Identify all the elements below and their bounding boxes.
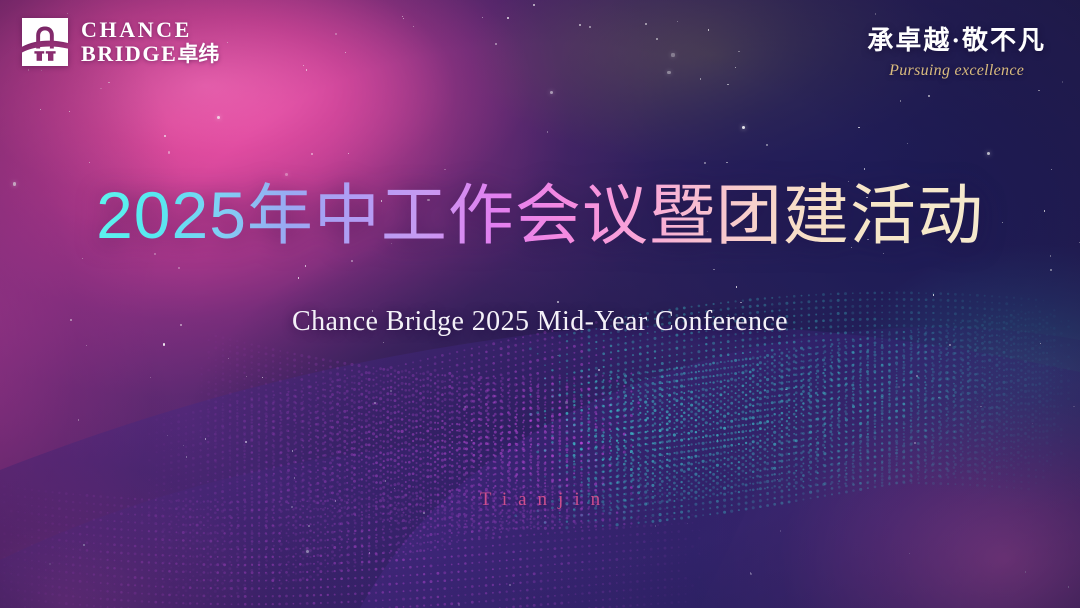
star: [1050, 269, 1052, 271]
star: [464, 406, 466, 408]
star: [547, 131, 548, 132]
star: [704, 162, 705, 163]
star: [108, 82, 109, 83]
conference-title-slide: CHANCE BRIDGE卓纬 承卓越·敬不凡 Pursuing excelle…: [0, 0, 1080, 608]
star: [677, 21, 678, 22]
star: [285, 173, 288, 176]
ribbon-fold-right: [360, 327, 1080, 608]
star: [980, 406, 981, 407]
star: [1032, 423, 1033, 424]
star: [69, 111, 70, 112]
particle-wave-mesh: [0, 0, 1080, 608]
star: [246, 376, 247, 377]
hero-subtitle: Chance Bridge 2025 Mid-Year Conference: [0, 306, 1080, 338]
star: [550, 91, 553, 94]
tagline-english: Pursuing excellence: [867, 62, 1046, 80]
star: [655, 525, 656, 526]
star: [168, 151, 170, 153]
star: [864, 168, 865, 169]
star: [533, 4, 534, 5]
star: [777, 479, 778, 480]
tagline-chinese: 承卓越·敬不凡: [867, 20, 1046, 57]
star: [292, 450, 293, 451]
star: [183, 445, 184, 446]
star: [785, 389, 786, 390]
star: [656, 38, 658, 40]
star: [928, 95, 929, 96]
star: [154, 253, 155, 254]
star: [858, 127, 859, 128]
star: [245, 441, 246, 442]
nebula-olive-tint: [0, 0, 1080, 608]
star: [28, 69, 29, 70]
ribbon-fold-lower: [0, 325, 1080, 608]
star: [311, 153, 313, 155]
star: [914, 442, 915, 443]
star: [217, 116, 220, 119]
star: [385, 480, 386, 481]
star: [89, 162, 90, 163]
star: [898, 386, 900, 388]
background-base-gradient: [0, 0, 1080, 608]
star: [390, 390, 391, 391]
star: [471, 440, 472, 441]
star: [610, 439, 611, 440]
nebula-navy-void: [0, 0, 1080, 608]
star: [228, 358, 229, 359]
star: [83, 544, 84, 545]
star: [163, 343, 165, 345]
nebula-magenta-bloom: [0, 0, 1080, 608]
star: [78, 419, 79, 420]
star: [100, 88, 101, 89]
star: [909, 553, 910, 554]
nebula-teal-glow: [0, 0, 1080, 608]
chance-bridge-arch-logo-icon: [22, 18, 68, 66]
star: [557, 301, 559, 303]
star: [41, 70, 42, 71]
star: [565, 401, 567, 403]
star: [736, 286, 737, 287]
star: [589, 26, 591, 28]
star: [369, 552, 370, 553]
star: [303, 65, 304, 66]
star: [772, 469, 773, 470]
star: [164, 135, 166, 137]
star: [150, 377, 151, 378]
hero-title: 2025年中工作会议暨团建活动: [96, 182, 984, 248]
star: [667, 71, 670, 74]
star: [335, 33, 336, 34]
star: [916, 375, 918, 377]
nebula-bottom-right-pink: [0, 0, 1080, 608]
star: [1050, 255, 1051, 256]
star: [883, 253, 884, 254]
star: [262, 377, 263, 378]
star: [509, 584, 511, 586]
nebula-hot-pink-core: [0, 0, 1080, 608]
star: [495, 43, 497, 45]
star: [227, 42, 228, 43]
star: [413, 26, 414, 27]
star: [345, 52, 346, 53]
star: [298, 277, 299, 278]
ribbon-fold-left: [0, 440, 760, 608]
star: [403, 18, 404, 19]
star: [786, 389, 787, 390]
brand-tagline: 承卓越·敬不凡 Pursuing excellence: [867, 20, 1046, 80]
vignette-overlay: [0, 0, 1080, 608]
star: [40, 109, 41, 110]
star: [306, 69, 307, 70]
star: [750, 573, 751, 574]
star: [383, 342, 384, 343]
star: [687, 523, 688, 524]
star: [933, 294, 934, 295]
star-field: [0, 0, 1080, 608]
star: [1051, 169, 1052, 170]
star: [86, 345, 87, 346]
nebula-bottom-left-pink: [0, 0, 1080, 608]
star: [750, 572, 751, 573]
star: [1025, 571, 1026, 572]
brand-name-line-2: BRIDGE卓纬: [81, 42, 219, 66]
star: [630, 452, 631, 453]
star: [900, 100, 901, 101]
hero-location: Tianjin: [0, 489, 1080, 511]
star: [205, 438, 206, 439]
brand-wordmark: CHANCE BRIDGE卓纬: [81, 18, 219, 66]
mesh-band-lower: [141, 291, 1060, 608]
star: [726, 162, 727, 163]
star: [557, 355, 558, 356]
star: [444, 169, 445, 170]
star: [1038, 90, 1039, 91]
hero-title-wrapper: 2025年中工作会议暨团建活动: [0, 182, 1080, 248]
star: [308, 525, 310, 527]
star: [186, 456, 187, 457]
star: [671, 53, 674, 56]
star: [305, 265, 306, 266]
star: [482, 17, 483, 18]
star: [664, 456, 665, 457]
star: [740, 302, 741, 303]
nebula-left-violet-wash: [0, 0, 1080, 608]
star: [645, 23, 647, 25]
star: [598, 369, 599, 370]
brand-name-cn: 卓纬: [177, 42, 219, 66]
star: [700, 78, 701, 79]
star: [938, 397, 939, 398]
star: [875, 13, 876, 14]
star: [1062, 81, 1063, 82]
brand-name-line-1: CHANCE: [81, 18, 219, 42]
star: [717, 439, 718, 440]
star: [579, 24, 581, 26]
star: [49, 563, 50, 564]
star: [742, 126, 745, 129]
star: [780, 530, 781, 531]
star: [735, 67, 736, 68]
star: [374, 402, 376, 404]
star: [727, 84, 728, 85]
star: [82, 258, 83, 259]
star: [907, 143, 908, 144]
brand-name-en: BRIDGE: [81, 41, 177, 66]
star: [67, 13, 68, 14]
star: [507, 17, 509, 19]
star: [708, 29, 709, 30]
star: [987, 152, 990, 155]
star: [178, 267, 180, 269]
star: [1073, 406, 1074, 407]
star: [402, 16, 403, 17]
star: [738, 51, 739, 52]
star: [167, 435, 168, 436]
star: [1040, 343, 1041, 344]
star: [458, 603, 460, 605]
star: [1068, 586, 1069, 587]
star: [766, 144, 767, 145]
star: [294, 477, 295, 478]
nebula-center-shadow: [0, 0, 1080, 608]
star: [423, 512, 425, 514]
star: [348, 153, 349, 154]
brand-logo[interactable]: CHANCE BRIDGE卓纬: [22, 18, 219, 66]
star: [306, 550, 309, 553]
star: [949, 344, 950, 345]
star: [351, 260, 353, 262]
star: [713, 269, 714, 270]
